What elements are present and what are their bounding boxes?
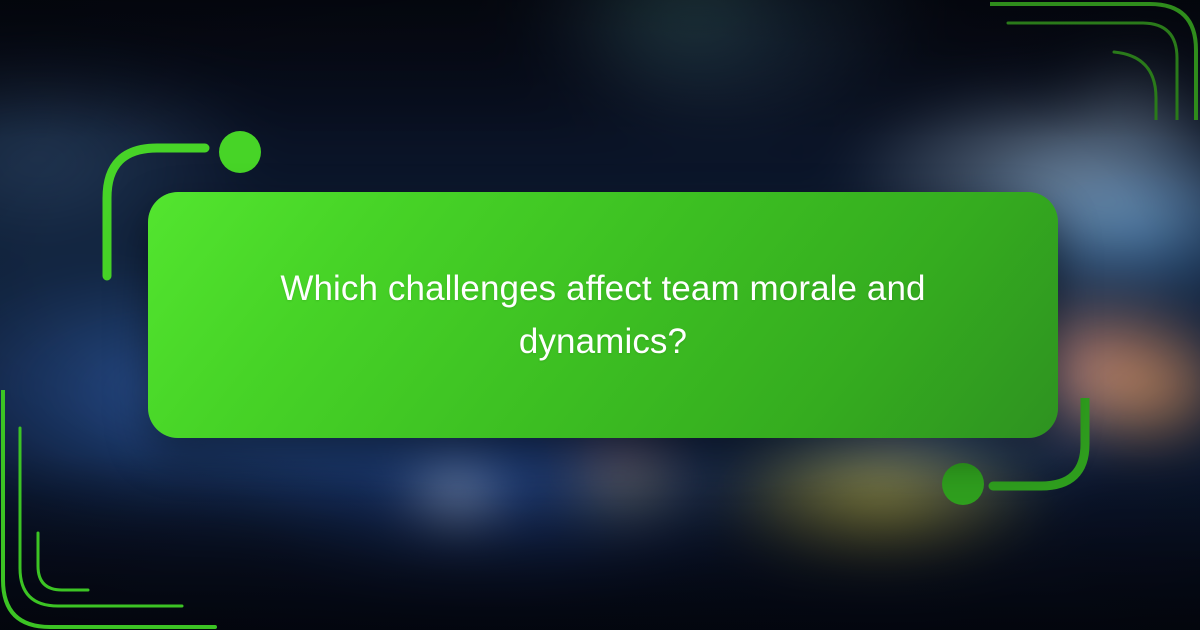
accent-dot-top-left-icon [219, 131, 261, 173]
accent-dot-bottom-right-icon [942, 463, 984, 505]
question-text: Which challenges affect team morale and … [243, 262, 963, 368]
question-card-graphic: Which challenges affect team morale and … [0, 0, 1200, 630]
question-card: Which challenges affect team morale and … [148, 192, 1058, 438]
